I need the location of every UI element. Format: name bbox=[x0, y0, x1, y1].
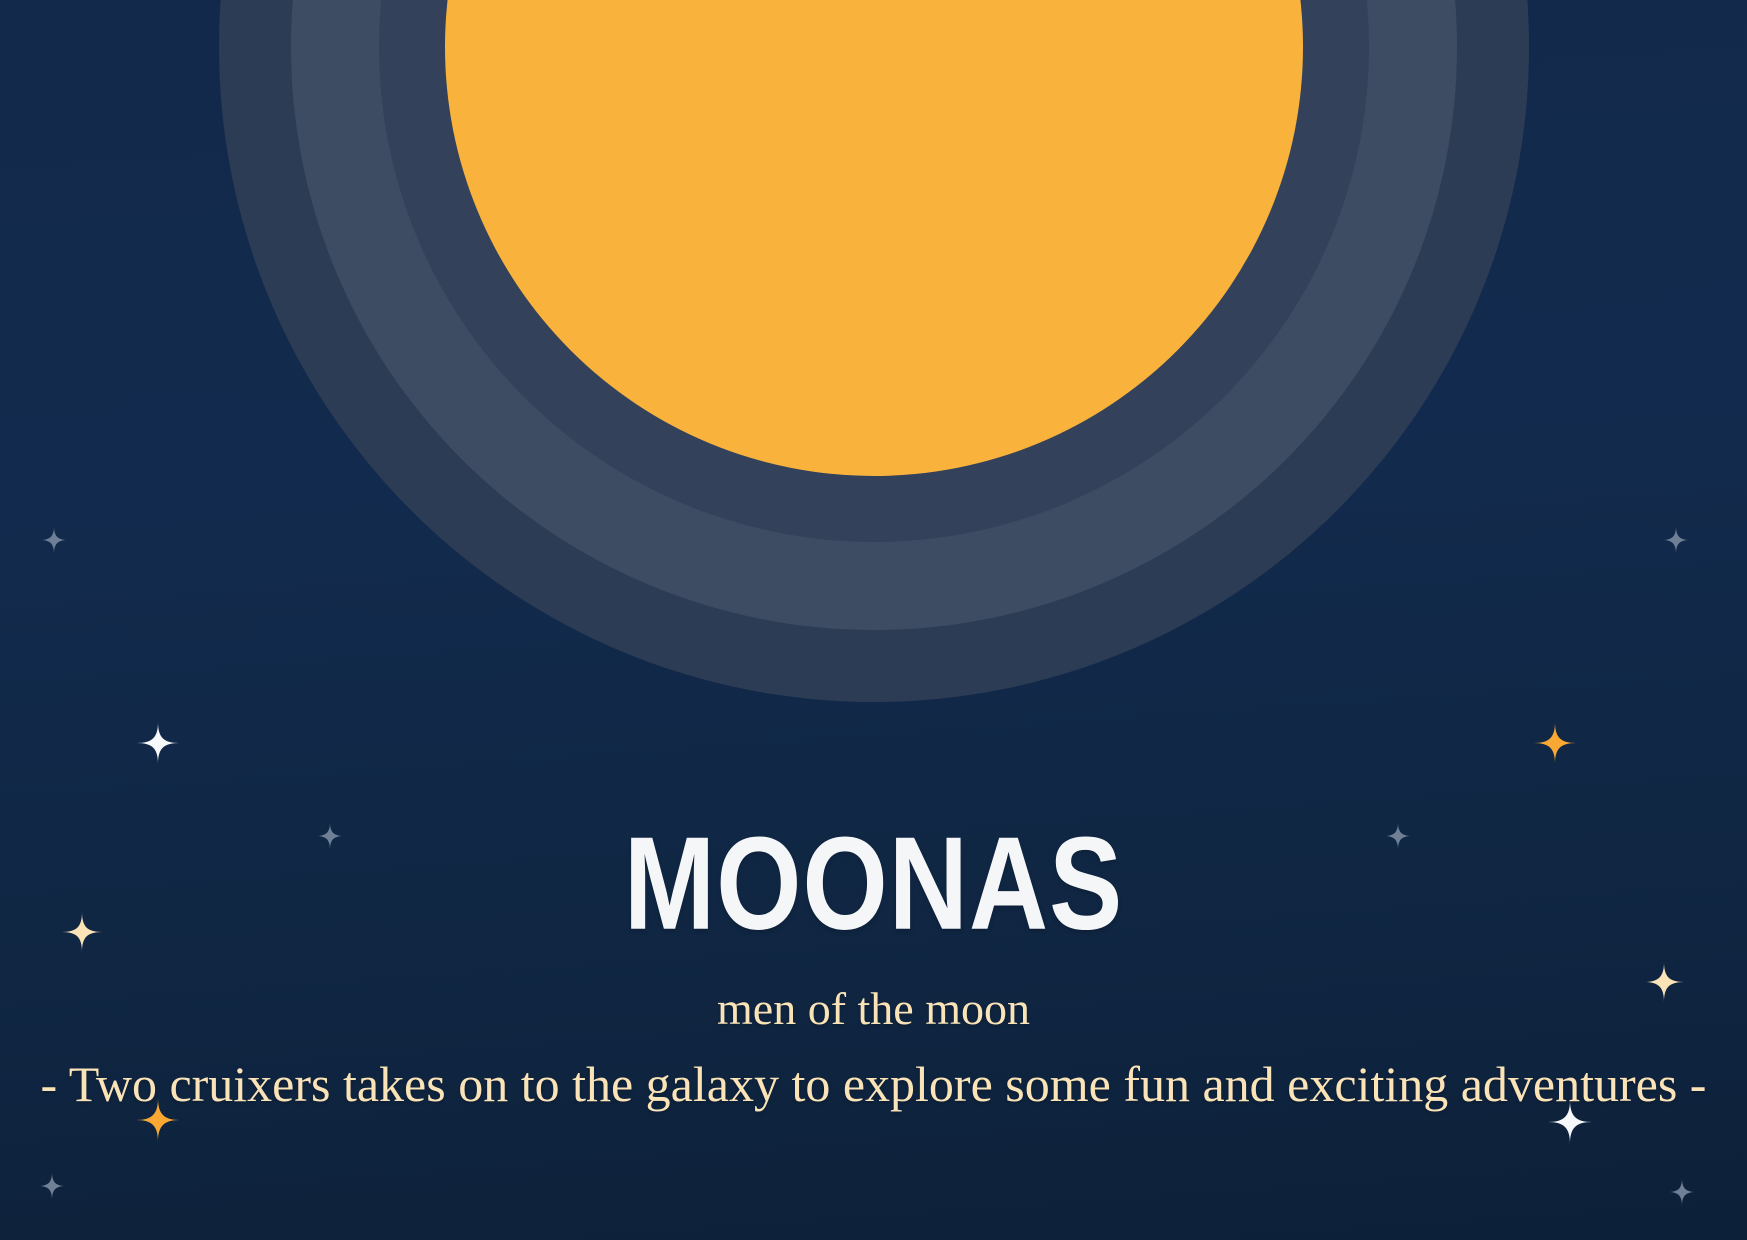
star-bottom-left-dim-icon bbox=[38, 1172, 66, 1200]
page-title: MOONAS bbox=[61, 817, 1686, 949]
star-left-white-icon bbox=[137, 722, 179, 764]
moon-graphic bbox=[219, 0, 1529, 702]
star-right-orange-icon bbox=[1534, 722, 1576, 764]
brand-text-block: MOONAS men of the moon - Two cruixers ta… bbox=[0, 832, 1747, 1111]
brand-subtitle: men of the moon bbox=[0, 986, 1747, 1032]
star-bottom-right-dim-icon bbox=[1668, 1178, 1696, 1206]
star-left-mid-dim-icon bbox=[40, 526, 68, 554]
brand-tagline: - Two cruixers takes on to the galaxy to… bbox=[0, 1058, 1747, 1111]
star-right-mid-dim-icon bbox=[1662, 526, 1690, 554]
poster-canvas: MOONAS men of the moon - Two cruixers ta… bbox=[0, 0, 1747, 1240]
